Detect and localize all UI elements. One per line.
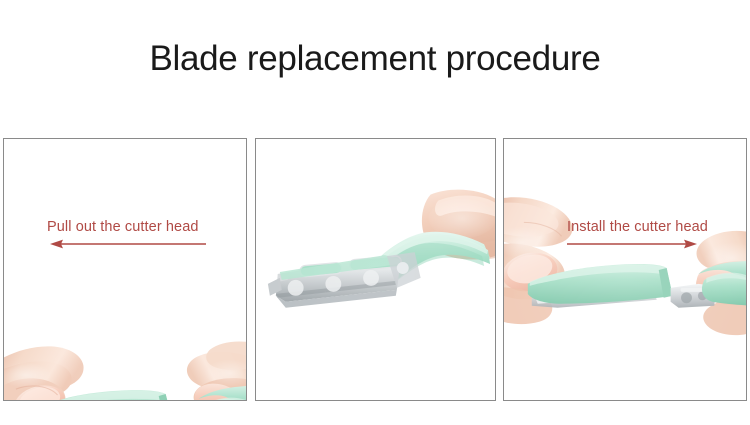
annotation-label-install: Install the cutter head [567,219,708,235]
photo-detached-cutter-head [256,139,495,400]
panel-install: Install the cutter head [503,138,747,401]
page-root: Blade replacement procedure [0,0,750,425]
panel-pull-out: Pull out the cutter head [3,138,247,401]
panel-cutter-head [255,138,496,401]
annotation-label-pull-out: Pull out the cutter head [47,219,199,235]
arrow-right-icon [566,238,698,250]
photo-install-the-cutter-head [504,139,746,400]
photo-pull-out-the-cutter-head [4,139,246,400]
arrow-left-icon [48,238,208,250]
page-title: Blade replacement procedure [0,38,750,80]
